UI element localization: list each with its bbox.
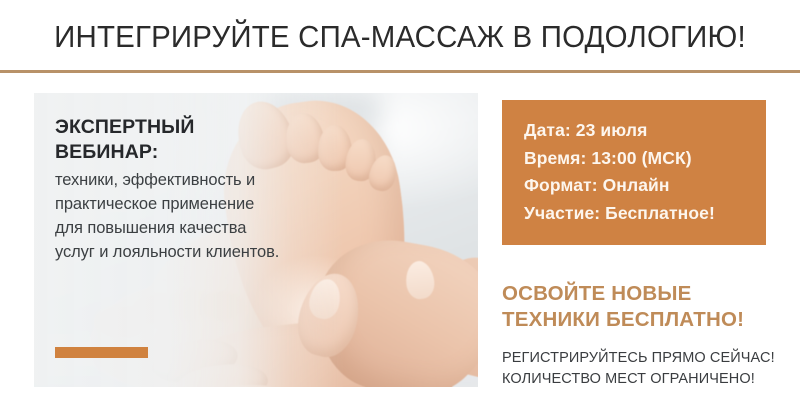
event-detail-participation: Участие: Бесплатное! bbox=[524, 200, 756, 228]
cta-subtext-line-2: КОЛИЧЕСТВО МЕСТ ОГРАНИЧЕНО! bbox=[502, 371, 755, 387]
event-details-box: Дата: 23 июля Время: 13:00 (МСК) Формат:… bbox=[502, 100, 766, 245]
left-heading-line-1: ЭКСПЕРТНЫЙ bbox=[55, 116, 194, 138]
cta-subtext: РЕГИСТРИРУЙТЕСЬ ПРЯМО СЕЙЧАС! КОЛИЧЕСТВО… bbox=[502, 348, 797, 390]
cta-heading: ОСВОЙТЕ НОВЫЕ ТЕХНИКИ БЕСПЛАТНО! bbox=[502, 281, 792, 333]
cta-subtext-line-1: РЕГИСТРИРУЙТЕСЬ ПРЯМО СЕЙЧАС! bbox=[502, 350, 775, 366]
event-detail-time: Время: 13:00 (МСК) bbox=[524, 145, 756, 173]
event-detail-format: Формат: Онлайн bbox=[524, 172, 756, 200]
left-accent-bar bbox=[55, 347, 148, 358]
left-heading: ЭКСПЕРТНЫЙ ВЕБИНАР: bbox=[55, 115, 280, 165]
event-detail-date: Дата: 23 июля bbox=[524, 117, 756, 145]
cta-heading-line-1: ОСВОЙТЕ НОВЫЕ bbox=[502, 282, 692, 305]
left-body-text: техники, эффективность и практическое пр… bbox=[55, 168, 280, 264]
left-heading-line-2: ВЕБИНАР: bbox=[55, 141, 158, 163]
header-divider bbox=[0, 70, 800, 73]
page-title: ИНТЕГРИРУЙТЕ СПА-МАССАЖ В ПОДОЛОГИЮ! bbox=[20, 18, 780, 56]
cta-heading-line-2: ТЕХНИКИ БЕСПЛАТНО! bbox=[502, 308, 744, 331]
left-copy-block: ЭКСПЕРТНЫЙ ВЕБИНАР: техники, эффективнос… bbox=[55, 115, 280, 264]
webinar-promo-banner: ИНТЕГРИРУЙТЕ СПА-МАССАЖ В ПОДОЛОГИЮ! bbox=[0, 0, 800, 416]
event-details-list: Дата: 23 июля Время: 13:00 (МСК) Формат:… bbox=[524, 117, 756, 227]
